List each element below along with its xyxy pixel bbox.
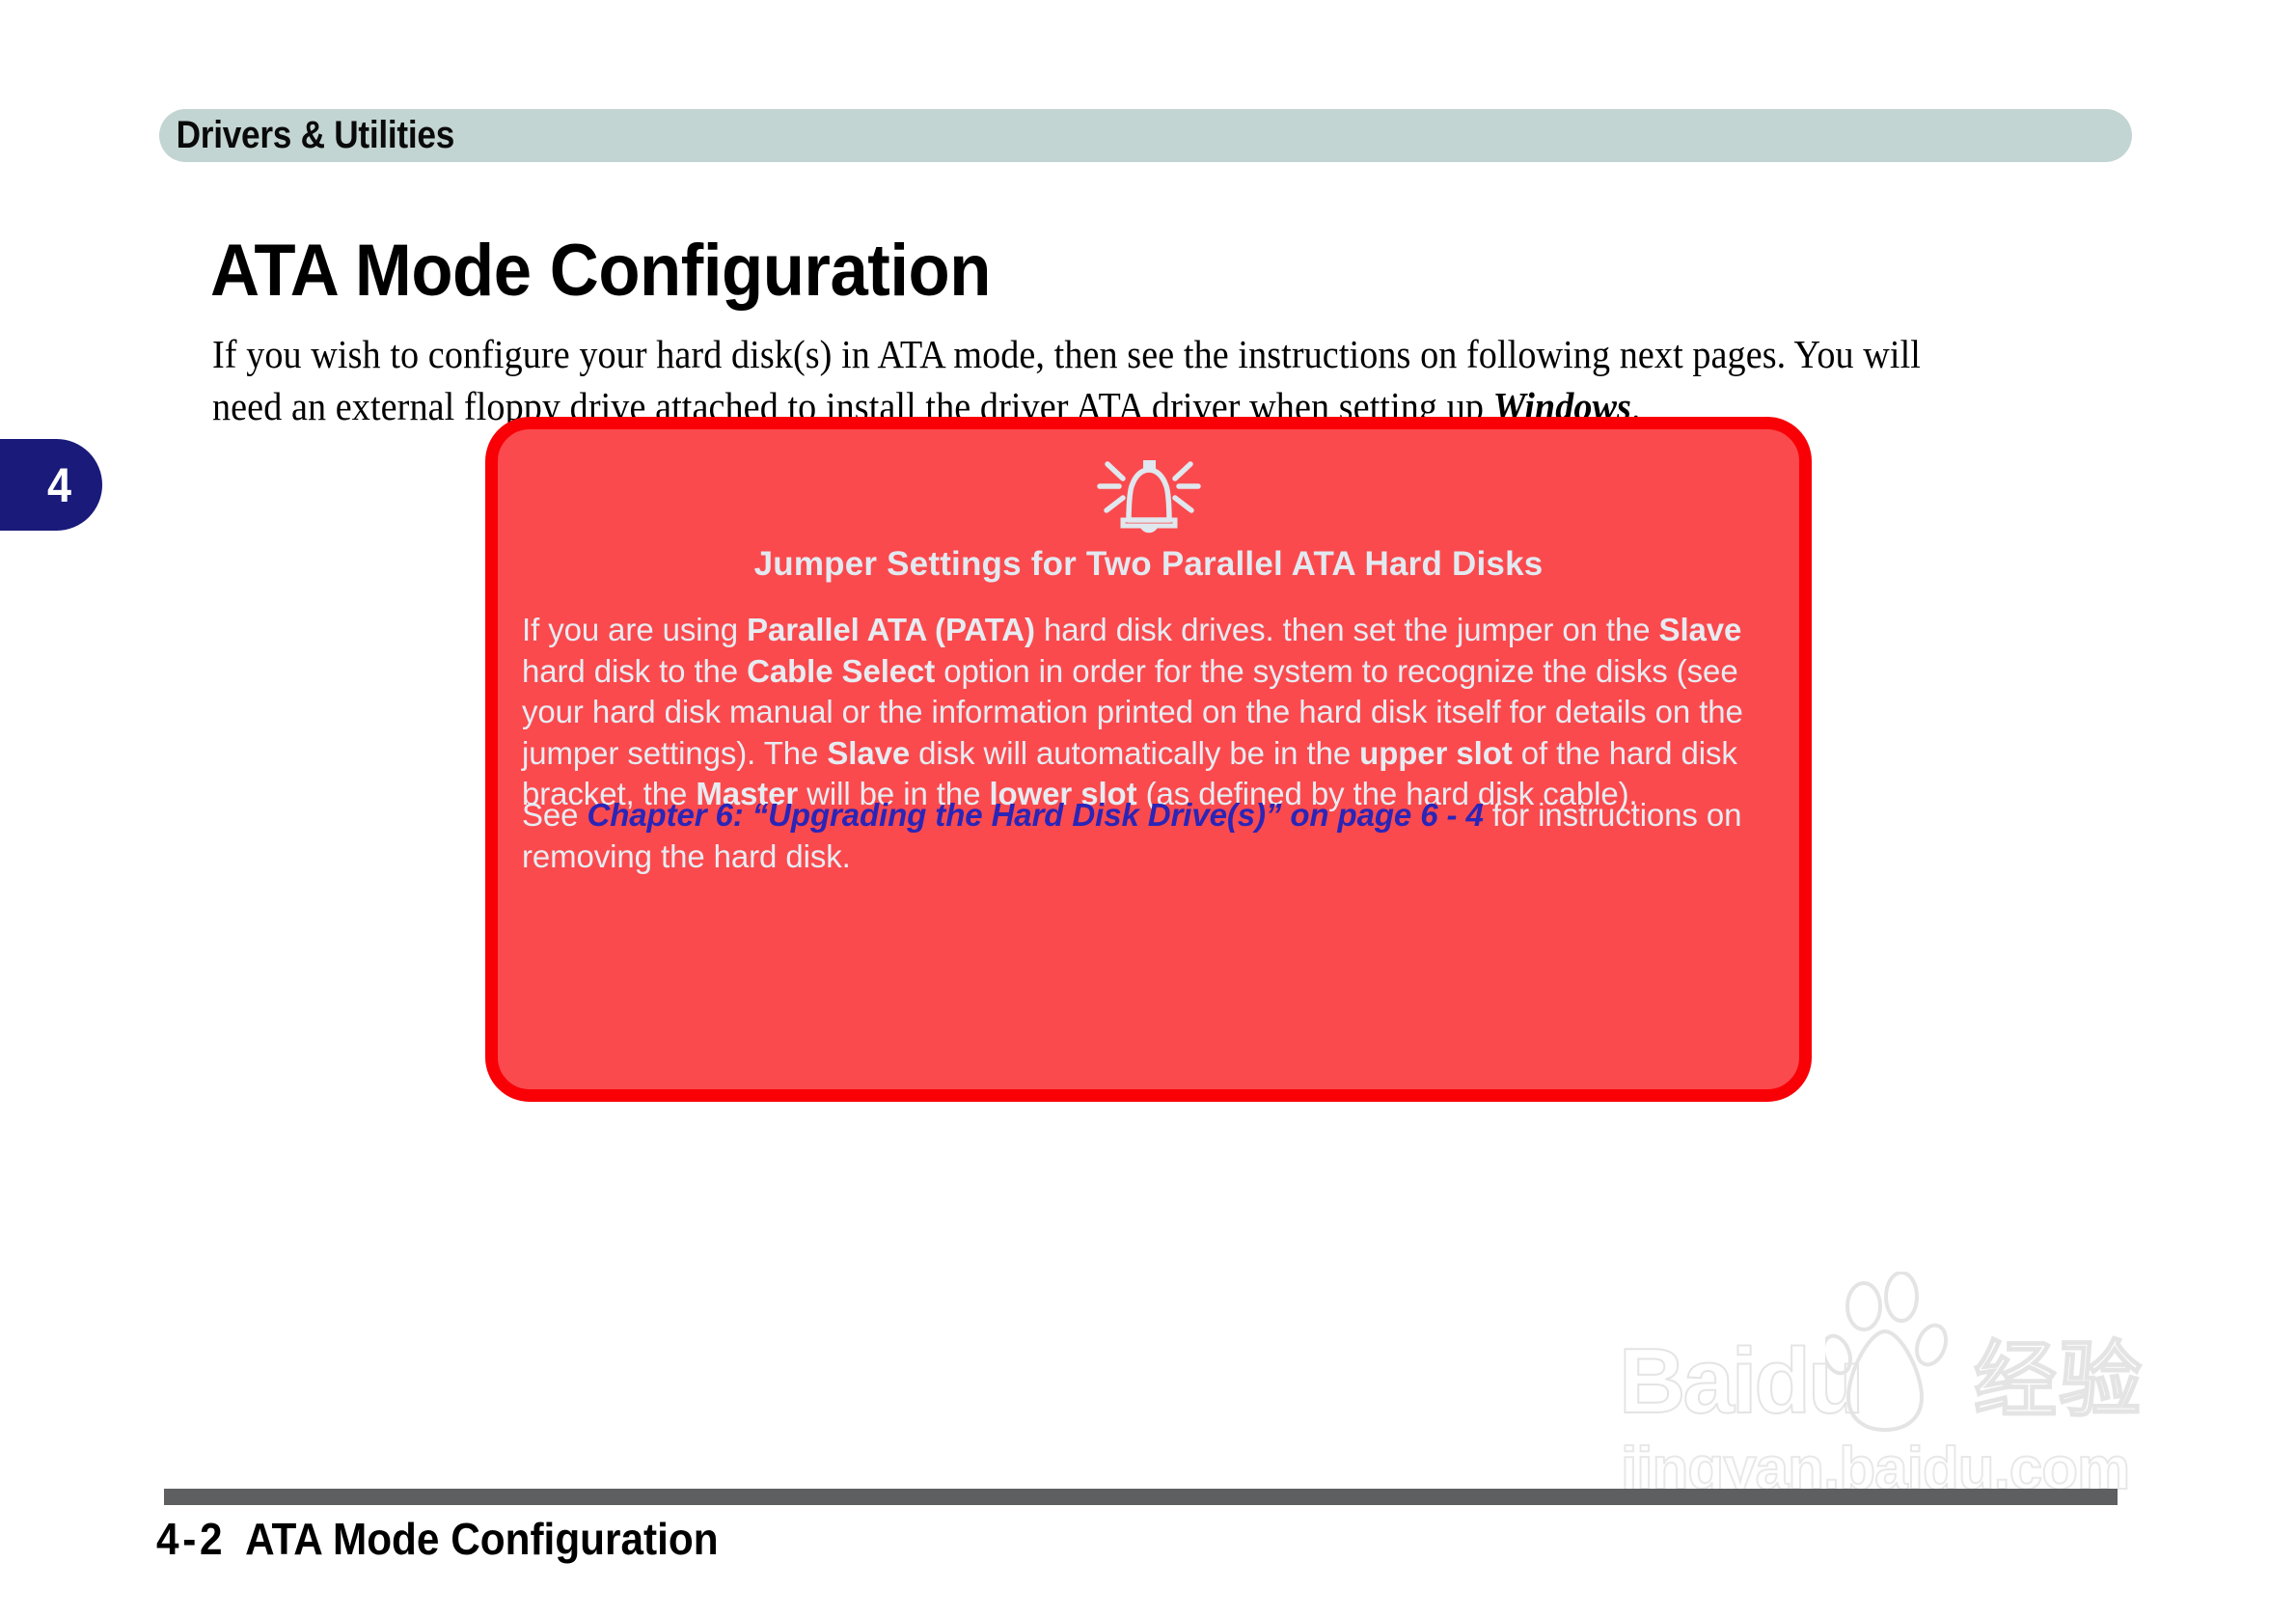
warning-paragraph-1: If you are using Parallel ATA (PATA) har…: [522, 611, 1766, 816]
wp1-b5: upper slot: [1359, 736, 1513, 772]
footer-page-number: 4: [156, 1514, 179, 1564]
wp1-b2: Slave: [1659, 613, 1742, 648]
chapter-tab-number: 4: [47, 461, 99, 509]
wp1-b3: Cable Select: [747, 654, 935, 690]
footer-section-number: 2: [200, 1514, 223, 1564]
wp1-s2: hard disk drives. then set the jumper on…: [1035, 613, 1659, 648]
baidu-wordmark: Baidu: [1619, 1335, 1862, 1428]
wp2-s1: See: [522, 798, 587, 834]
chapter-thumb-tab: 4: [0, 439, 102, 531]
wp1-b1: Parallel ATA (PATA): [747, 613, 1035, 648]
document-page: Drivers & Utilities 4 ATA Mode Configura…: [0, 0, 2296, 1617]
cross-reference-link[interactable]: Chapter 6: “Upgrading the Hard Disk Driv…: [587, 798, 1483, 834]
wp1-s1: If you are using: [522, 613, 747, 648]
baidu-chinese-label: 经验: [1974, 1339, 2144, 1422]
page-title: ATA Mode Configuration: [210, 229, 991, 313]
running-header-bar: Drivers & Utilities: [159, 109, 2132, 162]
wp1-s5: disk will automatically be in the: [910, 736, 1359, 772]
intro-text-part-1: If you wish to configure your hard disk(…: [212, 332, 1921, 428]
baidu-paw-icon: [1825, 1272, 1951, 1440]
alarm-bell-icon: [1096, 454, 1202, 541]
footer-rule: [164, 1489, 2118, 1505]
wp1-b4: Slave: [827, 736, 910, 772]
running-header-title: Drivers & Utilities: [159, 114, 454, 157]
footer-section-title: ATA Mode Configuration: [245, 1514, 719, 1564]
wp1-s3: hard disk to the: [522, 654, 747, 690]
warning-box-title: Jumper Settings for Two Parallel ATA Har…: [498, 545, 1799, 584]
footer-separator: -: [179, 1514, 200, 1564]
warning-note-box: Jumper Settings for Two Parallel ATA Har…: [485, 417, 1812, 1102]
warning-paragraph-2: See Chapter 6: “Upgrading the Hard Disk …: [522, 796, 1766, 878]
baidu-watermark: Baidu 经验 jingyan.baidu.com: [1619, 1275, 2169, 1517]
footer-text: 4-2 ATA Mode Configuration: [156, 1513, 719, 1565]
